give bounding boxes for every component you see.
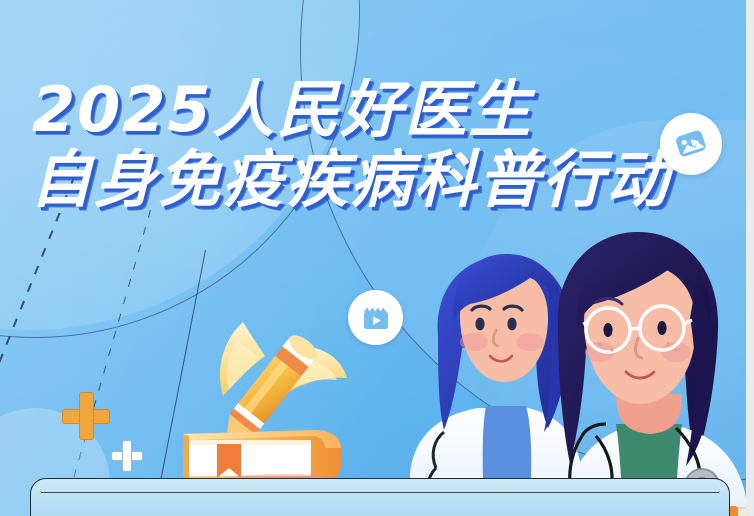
doctors-illustration — [400, 218, 754, 516]
eye-right-2 — [657, 321, 666, 335]
blush-left-1 — [460, 333, 488, 351]
winged-pencil-and-book-illustration — [165, 300, 365, 495]
video-play-icon — [359, 301, 393, 335]
right-edge-strip — [746, 0, 754, 516]
title-line-1: 2025人民好医生 — [32, 78, 670, 142]
plus-orange-icon — [62, 392, 110, 440]
plus-white-icon — [111, 440, 143, 472]
doctor-right — [558, 232, 754, 516]
blush-left-2 — [516, 333, 544, 351]
doctor-left — [410, 254, 582, 516]
eye-left-1 — [475, 318, 484, 331]
bottom-panel — [30, 478, 730, 516]
eye-right-1 — [603, 323, 612, 337]
image-icon — [672, 125, 710, 163]
title-line-2: 自身免疫疾病科普行动 — [30, 148, 670, 212]
banner-title: 2025人民好医生 自身免疫疾病科普行动 — [32, 78, 670, 213]
video-badge[interactable] — [348, 290, 403, 345]
photo-badge[interactable] — [660, 113, 722, 175]
eye-left-2 — [507, 318, 516, 331]
campaign-banner: 2025人民好医生 自身免疫疾病科普行动 — [0, 0, 754, 516]
